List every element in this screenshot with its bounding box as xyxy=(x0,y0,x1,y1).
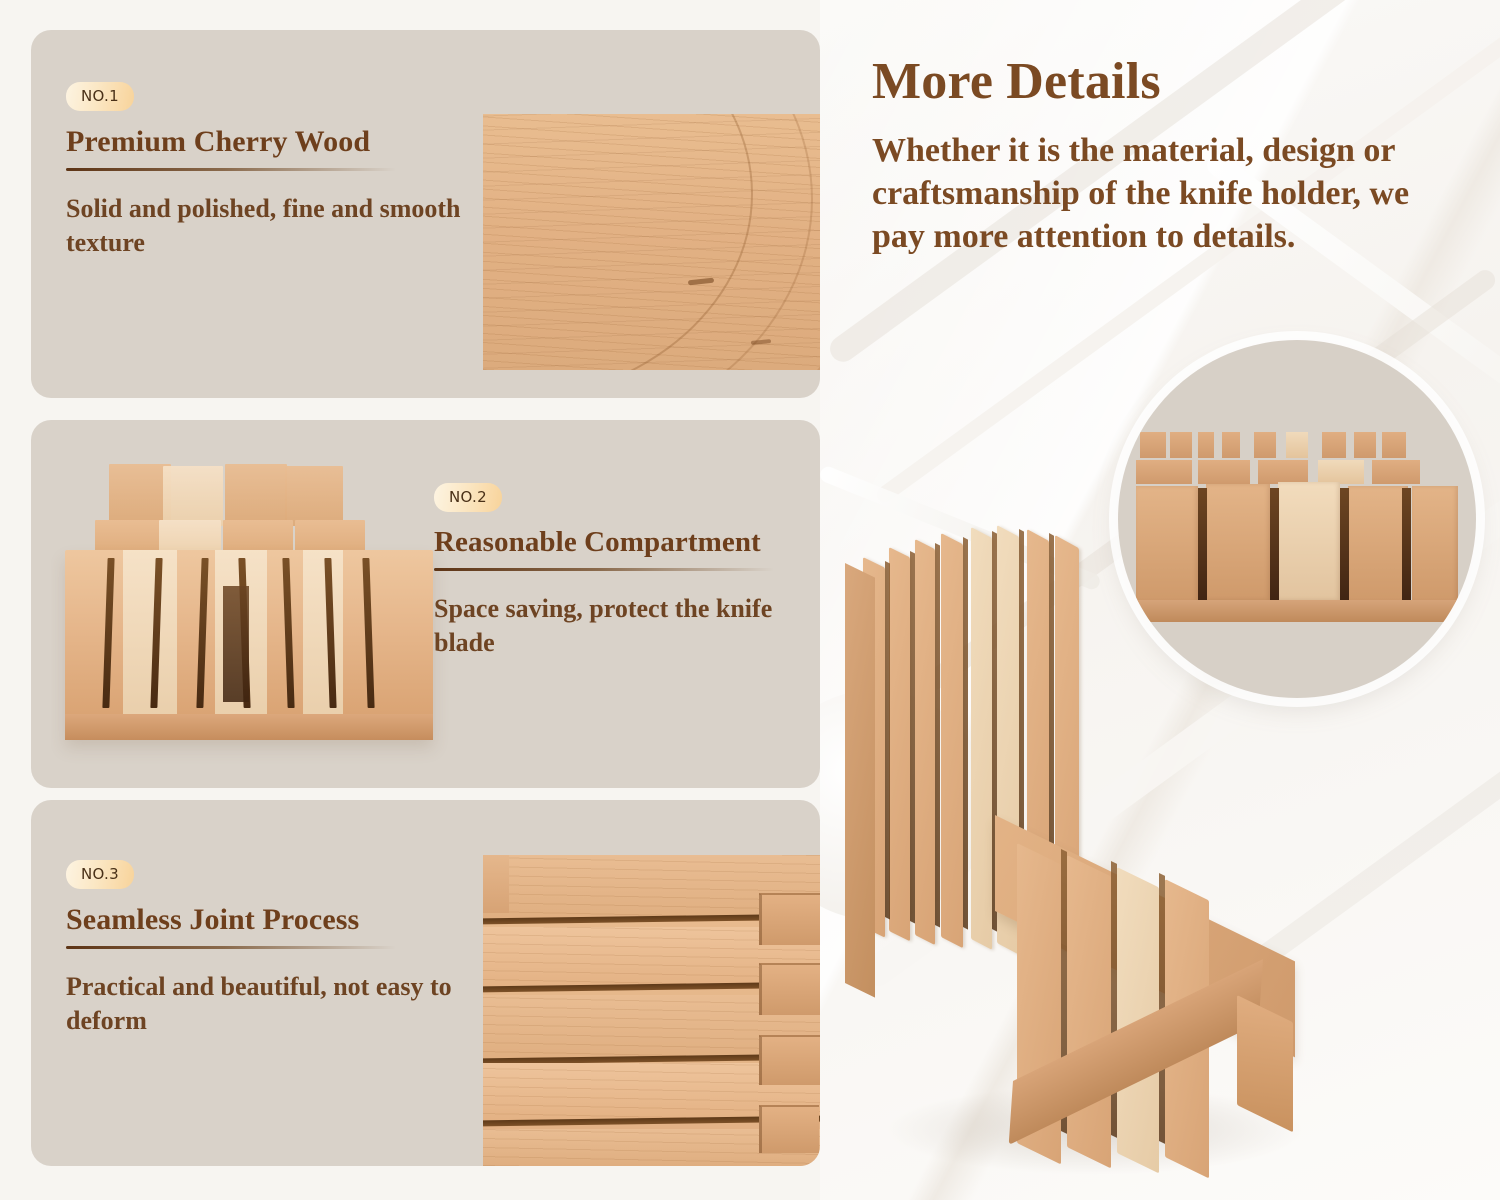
joint-notch xyxy=(759,893,820,945)
end-view-top-fin xyxy=(1322,432,1346,458)
hero-fin xyxy=(889,547,910,941)
block-back-fin xyxy=(225,464,287,524)
joint-notch xyxy=(759,1035,820,1085)
heading-underline xyxy=(434,568,774,571)
block-back-fin xyxy=(163,466,223,526)
feature-card-reasonable-compartment: NO.2 Reasonable Compartment Space saving… xyxy=(31,420,820,788)
hero-side-wall xyxy=(845,563,875,998)
end-view-mid-fin xyxy=(1318,460,1364,484)
feature-card-seamless-joint-process: NO.3 Seamless Joint Process Practical an… xyxy=(31,800,820,1166)
feature-subtext: Practical and beautiful, not easy to def… xyxy=(66,970,466,1039)
grain-arc xyxy=(483,114,820,370)
hero-lower-channel xyxy=(1067,855,1111,1168)
hero-slot xyxy=(935,543,940,928)
joint-notch xyxy=(759,1105,819,1153)
end-view-top-fin xyxy=(1198,432,1214,458)
knife-organizer-body xyxy=(845,525,1365,1185)
hero-slot xyxy=(910,551,915,923)
end-view-mid-fin xyxy=(1258,460,1308,484)
feature-card-copy: NO.2 Reasonable Compartment Space saving… xyxy=(434,483,814,661)
end-view-top-fin xyxy=(1140,432,1166,458)
block-pale-column xyxy=(303,550,343,738)
seamless-joint-photo xyxy=(483,855,820,1166)
page-title: More Details xyxy=(872,56,1432,108)
hero-slot xyxy=(885,561,890,919)
end-view-mid-fin xyxy=(1136,460,1192,484)
feature-heading: Seamless Joint Process xyxy=(66,903,466,937)
block-center-recess xyxy=(223,586,249,702)
joint-notch xyxy=(759,963,820,1015)
block-back-fin xyxy=(285,466,343,526)
wood-grain-texture xyxy=(483,114,820,370)
feature-card-copy: NO.3 Seamless Joint Process Practical an… xyxy=(66,860,466,1039)
headline-block: More Details Whether it is the material,… xyxy=(872,56,1432,258)
block-back-fin xyxy=(109,464,171,524)
end-view-top-fin xyxy=(1254,432,1276,458)
feature-card-premium-cherry-wood: NO.1 Premium Cherry Wood Solid and polis… xyxy=(31,30,820,398)
end-view-top-fin xyxy=(1170,432,1192,458)
end-view-mid-fin xyxy=(1198,460,1250,484)
hero-fin xyxy=(971,527,992,950)
end-view-mid-fin xyxy=(1372,460,1420,484)
end-view-top-fin xyxy=(1354,432,1376,458)
hero-fin xyxy=(941,533,963,948)
end-view-top-fin xyxy=(1382,432,1406,458)
feature-card-copy: NO.1 Premium Cherry Wood Solid and polis… xyxy=(66,82,466,261)
heading-underline xyxy=(66,946,396,949)
cherry-wood-grain-photo xyxy=(483,114,820,370)
feature-subtext: Space saving, protect the knife blade xyxy=(434,592,814,661)
page-subtitle: Whether it is the material, design or cr… xyxy=(872,130,1432,258)
hero-product-photo xyxy=(845,525,1365,1185)
block-plinth xyxy=(65,714,433,740)
end-view-top-fin xyxy=(1286,432,1308,458)
block-pale-column xyxy=(123,550,177,738)
feature-heading: Premium Cherry Wood xyxy=(66,125,466,159)
knife-block-front-photo xyxy=(51,446,451,776)
joint-closeup-texture xyxy=(483,855,820,1166)
badge-no-1: NO.1 xyxy=(66,82,134,111)
hero-slot xyxy=(963,537,968,930)
joint-left-edge xyxy=(483,855,509,913)
hero-fin xyxy=(915,539,935,945)
end-view-top-fin xyxy=(1222,432,1240,458)
hero-lower-slot xyxy=(1111,861,1117,1138)
feature-subtext: Solid and polished, fine and smooth text… xyxy=(66,192,466,261)
feature-heading: Reasonable Compartment xyxy=(434,526,814,559)
heading-underline xyxy=(66,168,396,171)
badge-no-2: NO.2 xyxy=(434,483,502,512)
badge-no-3: NO.3 xyxy=(66,860,134,889)
end-view-column xyxy=(1412,486,1458,602)
end-view-gap xyxy=(1402,488,1411,600)
